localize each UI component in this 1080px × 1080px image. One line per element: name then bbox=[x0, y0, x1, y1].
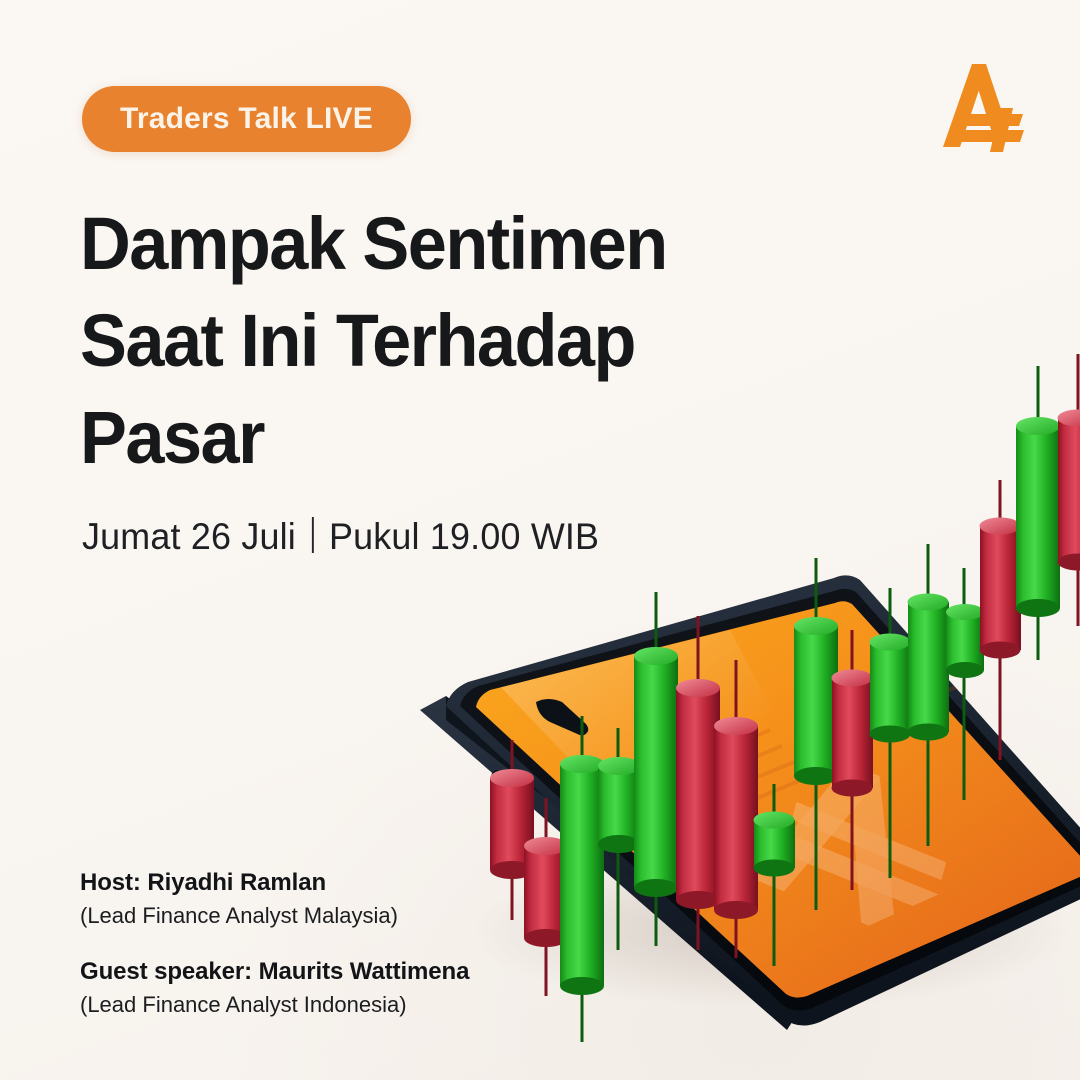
headline-line-1: Dampak Sentimen bbox=[80, 196, 802, 293]
speaker-list: Host: Riyadhi Ramlan (Lead Finance Analy… bbox=[80, 868, 469, 1019]
host-name: Host: Riyadhi Ramlan bbox=[80, 868, 469, 898]
promo-poster: Traders Talk LIVE Dampak Sentimen Saat I… bbox=[0, 0, 1080, 1080]
live-badge-label: Traders Talk LIVE bbox=[120, 104, 373, 134]
live-badge: Traders Talk LIVE bbox=[82, 86, 411, 152]
guest-role: (Lead Finance Analyst Indonesia) bbox=[80, 991, 469, 1020]
guest-block: Guest speaker: Maurits Wattimena (Lead F… bbox=[80, 957, 469, 1020]
guest-name: Guest speaker: Maurits Wattimena bbox=[80, 957, 469, 987]
candle-16-bearish bbox=[1058, 354, 1080, 626]
candle-14-bearish bbox=[980, 480, 1022, 760]
event-date: Jumat 26 Juli bbox=[82, 516, 296, 558]
candle-15-bullish bbox=[1016, 366, 1060, 660]
host-role: (Lead Finance Analyst Malaysia) bbox=[80, 902, 469, 931]
brand-logo-icon bbox=[928, 58, 1032, 158]
host-block: Host: Riyadhi Ramlan (Lead Finance Analy… bbox=[80, 868, 469, 931]
